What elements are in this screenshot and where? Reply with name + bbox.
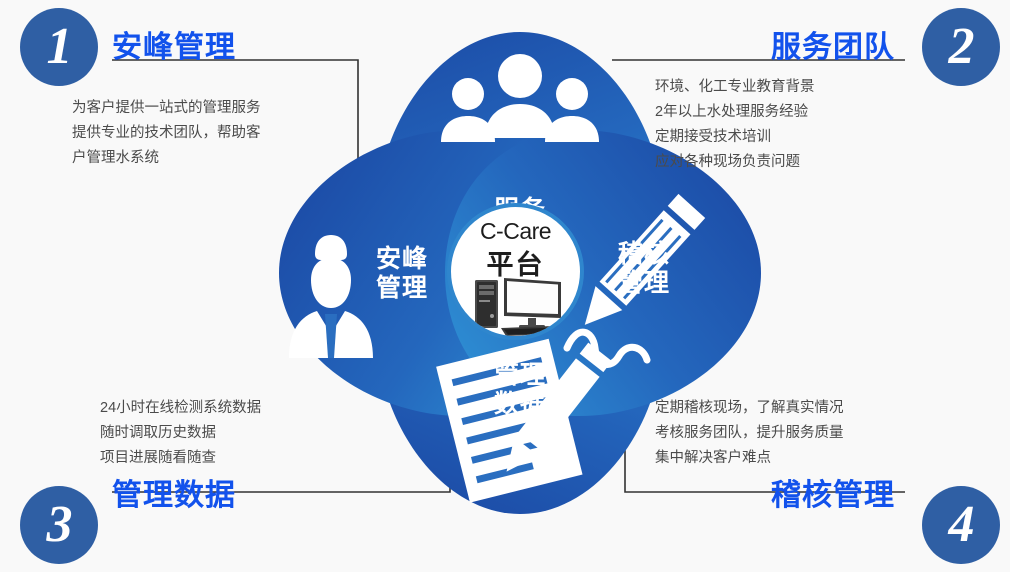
section-body-3: 24小时在线检测系统数据 随时调取历史数据 项目进展随看随查	[100, 396, 261, 471]
section-body-1: 为客户提供一站式的管理服务 提供专业的技术团队，帮助客 户管理水系统	[72, 96, 261, 171]
infographic-canvas: 服务 团队 安峰 管理 稽核 管理 管理 数据 C-Care 平台	[0, 0, 1010, 572]
section-heading-4: 稽核管理	[771, 470, 895, 514]
body-line: 户管理水系统	[72, 146, 261, 171]
badge-number-4: 4	[922, 486, 1000, 564]
section-heading-2: 服务团队	[771, 22, 895, 66]
section-heading-1: 安峰管理	[112, 22, 236, 66]
body-line: 24小时在线检测系统数据	[100, 396, 261, 421]
badge-number-2: 2	[922, 8, 1000, 86]
petal-right-line2: 管理	[597, 269, 691, 298]
body-line: 2年以上水处理服务经验	[655, 100, 815, 125]
petal-bottom-line2: 数据	[473, 390, 567, 419]
section-body-2: 环境、化工专业教育背景 2年以上水处理服务经验 定期接受技术培训 应对各种现场负…	[655, 75, 815, 175]
petal-label-right: 稽核 管理	[597, 240, 691, 298]
body-line: 环境、化工专业教育背景	[655, 75, 815, 100]
petal-label-bottom: 管理 数据	[473, 361, 567, 419]
body-line: 定期稽核现场，了解真实情况	[655, 396, 844, 421]
section-heading-3: 管理数据	[112, 470, 236, 514]
body-line: 考核服务团队，提升服务质量	[655, 421, 844, 446]
petal-left-line1: 安峰	[355, 245, 449, 274]
body-line: 随时调取历史数据	[100, 421, 261, 446]
petal-bottom-line1: 管理	[473, 361, 567, 390]
petal-label-left: 安峰 管理	[355, 245, 449, 303]
desktop-computer-icon	[473, 276, 567, 338]
body-line: 项目进展随看随查	[100, 446, 261, 471]
body-line: 集中解决客户难点	[655, 446, 844, 471]
body-line: 应对各种现场负责问题	[655, 150, 815, 175]
body-line: 提供专业的技术团队，帮助客	[72, 121, 261, 146]
body-line: 定期接受技术培训	[655, 125, 815, 150]
petal-right-line1: 稽核	[597, 240, 691, 269]
badge-number-3: 3	[20, 486, 98, 564]
section-body-4: 定期稽核现场，了解真实情况 考核服务团队，提升服务质量 集中解决客户难点	[655, 396, 844, 471]
badge-number-1: 1	[20, 8, 98, 86]
body-line: 为客户提供一站式的管理服务	[72, 96, 261, 121]
hub-title: C-Care	[451, 218, 580, 245]
center-hub[interactable]: C-Care 平台	[447, 203, 584, 340]
petal-left-line2: 管理	[355, 274, 449, 303]
